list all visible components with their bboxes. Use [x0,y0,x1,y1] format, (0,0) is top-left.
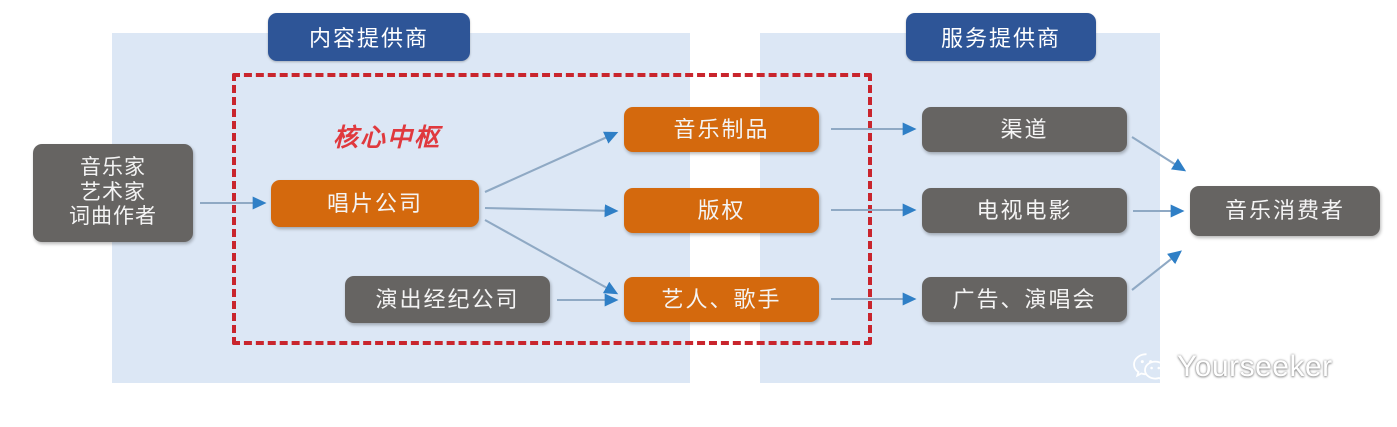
node-channel: 渠道 [922,107,1127,152]
diagram-canvas: 内容提供商 服务提供商 核心中枢 音乐家 艺术家 词曲作者 唱片公司 演出经纪公… [0,0,1397,427]
node-artists-singers: 艺人、歌手 [624,277,819,322]
header-service-provider: 服务提供商 [906,13,1096,61]
node-performance-agency: 演出经纪公司 [345,276,550,323]
node-copyright: 版权 [624,188,819,233]
node-ads-concert: 广告、演唱会 [922,277,1127,322]
node-music-products: 音乐制品 [624,107,819,152]
node-tv-film: 电视电影 [922,188,1127,233]
node-label-company: 唱片公司 [271,180,479,227]
node-music-consumer: 音乐消费者 [1190,186,1380,236]
core-hub-caption: 核心中枢 [333,118,441,154]
wechat-icon [1131,351,1169,383]
watermark-text: Yourseeker [1177,350,1333,384]
watermark: Yourseeker [1131,350,1333,384]
node-creators: 音乐家 艺术家 词曲作者 [33,144,193,242]
header-content-provider: 内容提供商 [268,13,470,61]
